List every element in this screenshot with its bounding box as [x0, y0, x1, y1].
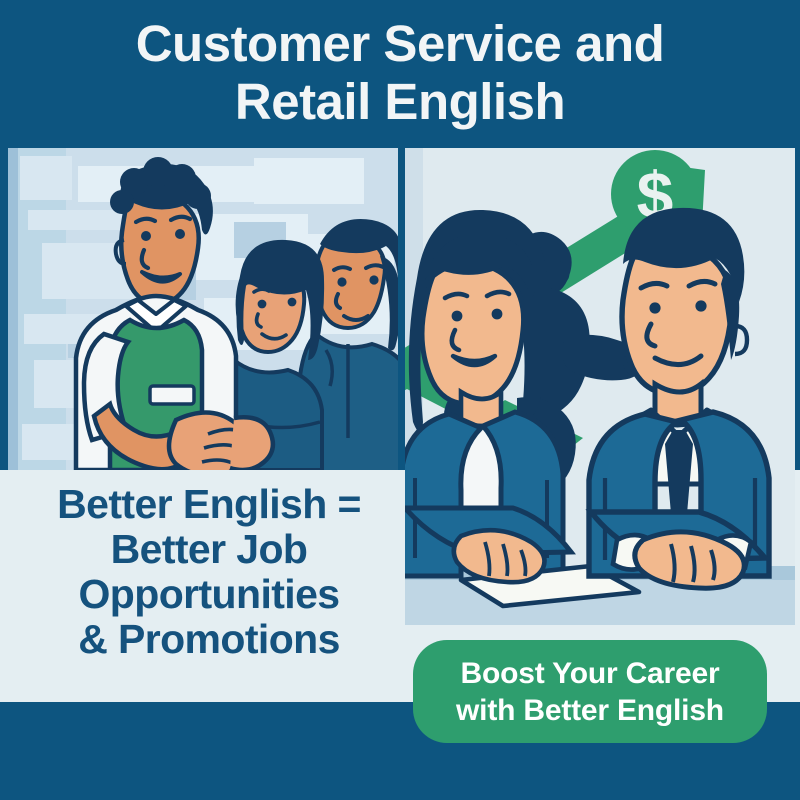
retail-handshake-illustration [8, 148, 398, 470]
headline-line-4: & Promotions [24, 617, 394, 662]
headline-line-1: Better English = [24, 482, 394, 527]
poster-root: $ [0, 0, 800, 800]
cta-line-2: with Better English [456, 692, 724, 729]
title-line-2: Retail English [235, 73, 565, 131]
career-growth-illustration: $ [405, 148, 795, 625]
headline-text: Better English = Better Job Opportunitie… [24, 482, 394, 662]
poster-header: Customer Service and Retail English [0, 0, 800, 146]
headline-line-3: Opportunities [24, 572, 394, 617]
title-line-1: Customer Service and [136, 15, 665, 73]
cta-button[interactable]: Boost Your Career with Better English [413, 640, 767, 743]
headline-line-2: Better Job [24, 527, 394, 572]
cta-line-1: Boost Your Career [461, 655, 720, 692]
